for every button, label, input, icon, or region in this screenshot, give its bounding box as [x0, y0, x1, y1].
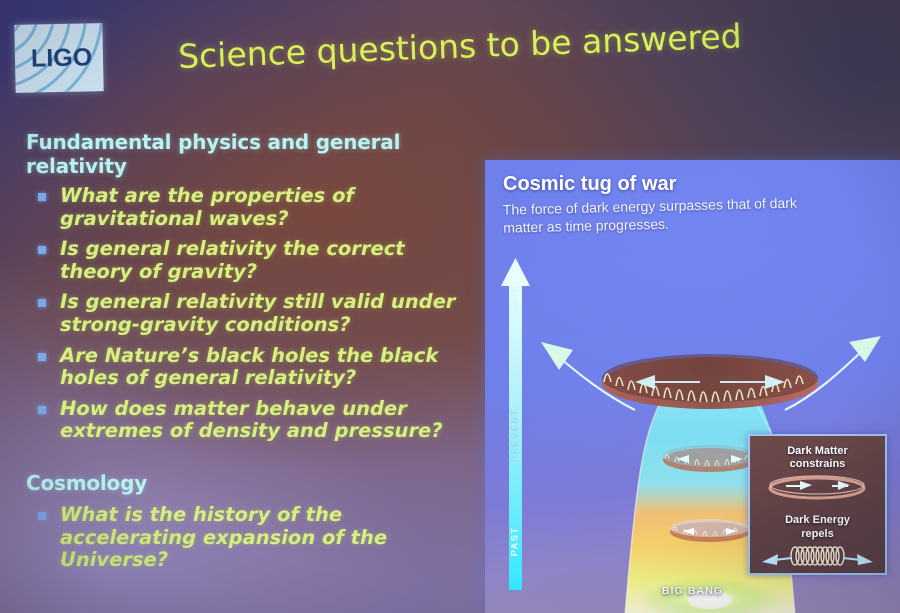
- dark-matter-ring-icon: [750, 471, 885, 505]
- list-item-text: Is general relativity the correct theory…: [60, 237, 405, 283]
- mid-ring-lower: [670, 519, 750, 542]
- bullet-marker-icon: [38, 299, 46, 307]
- list-item: Are Nature’s black holes the black holes…: [18, 345, 478, 390]
- bullet-list-fundamental-physics: What are the properties of gravitational…: [18, 185, 478, 443]
- legend-box: Dark Matter constrains Dark Energy repel…: [748, 434, 887, 575]
- mid-ring-upper: [663, 445, 757, 472]
- legend-dark-energy-line1: Dark Energy: [750, 514, 885, 527]
- dark-energy-spring-icon: [750, 541, 885, 571]
- big-bang-label: BIG BANG: [485, 585, 900, 597]
- legend-dark-energy-art: [750, 541, 885, 571]
- list-item: Is general relativity the correct theory…: [18, 238, 478, 283]
- legend-dark-energy-title: Dark Energy repels: [750, 514, 885, 540]
- bullet-marker-icon: [38, 193, 46, 201]
- list-item: What is the history of the accelerating …: [18, 504, 478, 572]
- bullet-marker-icon: [38, 406, 46, 414]
- bullet-list-cosmology: What is the history of the accelerating …: [18, 504, 478, 572]
- list-item-text: Is general relativity still valid under …: [60, 290, 455, 336]
- bullet-marker-icon: [38, 512, 46, 520]
- list-item-text: What are the properties of gravitational…: [60, 184, 354, 230]
- list-item-text: What is the history of the accelerating …: [60, 503, 387, 571]
- top-rim-ring: [602, 354, 818, 409]
- time-label-future: FUTURE: [510, 278, 521, 338]
- section-heading-fundamental-physics: Fundamental physics and general relativi…: [26, 130, 478, 178]
- time-label-past: PAST: [510, 512, 521, 572]
- legend-dark-energy-line2: repels: [750, 528, 885, 541]
- time-axis-labels: FUTURE PRESENT PAST: [501, 258, 527, 588]
- bullet-marker-icon: [38, 353, 46, 361]
- list-item-text: How does matter behave under extremes of…: [60, 397, 443, 443]
- ligo-logo: LIGO: [14, 23, 103, 93]
- content-column: Fundamental physics and general relativi…: [18, 130, 478, 580]
- bullet-marker-icon: [38, 246, 46, 254]
- legend-dark-matter-line2: constrains: [750, 458, 885, 471]
- list-item-text: Are Nature’s black holes the black holes…: [60, 344, 438, 390]
- section-heading-cosmology: Cosmology: [26, 471, 478, 495]
- list-item: How does matter behave under extremes of…: [18, 398, 478, 443]
- list-item: What are the properties of gravitational…: [18, 185, 478, 230]
- presentation-slide: LIGO Science questions to be answered Fu…: [0, 0, 900, 613]
- legend-dark-matter-art: [750, 471, 885, 505]
- cosmic-tug-of-war-panel: Cosmic tug of war The force of dark ener…: [485, 160, 900, 613]
- time-label-present: PRESENT: [510, 406, 521, 466]
- legend-dark-matter-title: Dark Matter constrains: [750, 445, 885, 471]
- list-item: Is general relativity still valid under …: [18, 291, 478, 336]
- legend-dark-matter-line1: Dark Matter: [750, 445, 885, 458]
- ligo-logo-text: LIGO: [31, 43, 93, 73]
